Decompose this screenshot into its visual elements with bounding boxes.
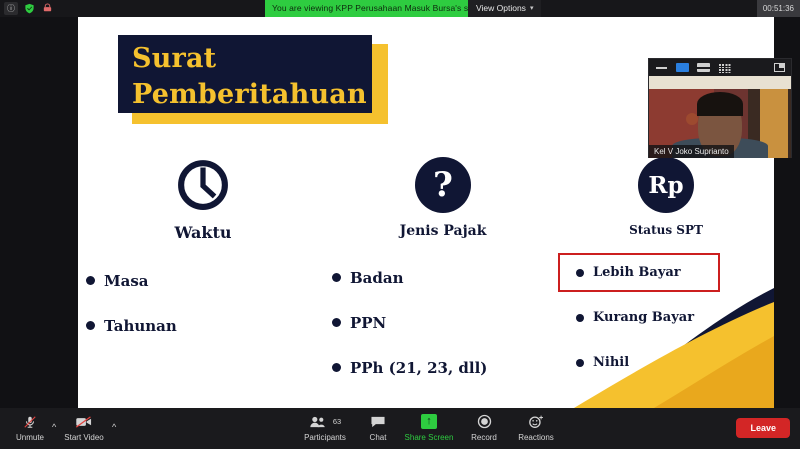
- list-item: PPh (21, 23, dll): [318, 345, 568, 390]
- record-button[interactable]: Record: [462, 412, 506, 443]
- screen-share-banner: You are viewing KPP Perusahaan Masuk Bur…: [265, 0, 497, 17]
- share-screen-button[interactable]: ↑ Share Screen: [404, 412, 454, 443]
- column-heading-status-spt: Status SPT: [558, 223, 774, 237]
- self-video-feed: Kel V Joko Suprianto: [649, 76, 791, 158]
- gallery-view-icon[interactable]: [697, 63, 710, 73]
- slide-title-line-2: Pemberitahuan: [132, 77, 358, 113]
- rupiah-glyph: Rp: [638, 157, 694, 213]
- self-view-thumbnail[interactable]: Kel V Joko Suprianto: [648, 58, 792, 158]
- popout-icon[interactable]: [774, 63, 785, 72]
- view-options-label: View Options: [476, 0, 526, 17]
- list-item-highlighted: Lebih Bayar: [558, 253, 720, 292]
- camera-off-icon: [75, 412, 93, 431]
- record-label: Record: [471, 433, 497, 443]
- start-video-button[interactable]: Start Video: [60, 412, 108, 443]
- participants-button[interactable]: 63 Participants: [300, 412, 350, 443]
- slide-title: Surat Pemberitahuan: [118, 35, 372, 113]
- slide-column-jenis-pajak: ? Jenis Pajak Badan PPN PPh (21, 23, dll…: [318, 157, 568, 390]
- reactions-button[interactable]: Reactions: [512, 412, 560, 443]
- clock-icon: [78, 157, 328, 219]
- microphone-muted-icon: [23, 412, 37, 431]
- list-item-label: Lebih Bayar: [593, 265, 681, 280]
- participant-name-label: Kel V Joko Suprianto: [649, 145, 734, 158]
- share-screen-label: Share Screen: [405, 433, 454, 443]
- list-item: Badan: [318, 255, 568, 300]
- list-item-label: Masa: [104, 272, 149, 290]
- recording-icon[interactable]: [40, 2, 54, 15]
- list-item-label: PPN: [350, 314, 386, 332]
- chat-bubble-icon: [370, 412, 386, 431]
- column-heading-waktu: Waktu: [78, 223, 328, 242]
- view-options-button[interactable]: View Options ▾: [468, 0, 541, 17]
- start-video-label: Start Video: [64, 433, 103, 443]
- slide-corner-decoration: [544, 288, 774, 408]
- list-item-label: Badan: [350, 269, 404, 287]
- grid-view-icon[interactable]: [718, 63, 731, 73]
- video-background-ceiling: [649, 76, 791, 89]
- view-mode-toolbar: [649, 59, 791, 76]
- share-arrow-up-icon: ↑: [421, 414, 437, 429]
- video-options-chevron-icon[interactable]: ^: [112, 422, 116, 432]
- minimize-icon[interactable]: [655, 63, 668, 73]
- participants-count: 63: [333, 417, 341, 426]
- participants-label: Participants: [304, 433, 346, 443]
- unmute-button[interactable]: Unmute: [10, 412, 50, 443]
- column-items-jenis-pajak: Badan PPN PPh (21, 23, dll): [318, 255, 568, 390]
- bullet-dot-icon: [332, 318, 341, 327]
- top-bar: ⓘ You are viewing KPP Perusahaan Masuk B…: [0, 0, 800, 17]
- info-icon[interactable]: ⓘ: [4, 2, 18, 15]
- list-item: Tahunan: [78, 303, 328, 348]
- bullet-dot-icon: [332, 273, 341, 282]
- record-circle-icon: [477, 412, 492, 431]
- stage-letterbox-left: [0, 17, 78, 408]
- chat-button[interactable]: Chat: [360, 412, 396, 443]
- chat-label: Chat: [370, 433, 387, 443]
- slide-title-line-1: Surat: [132, 41, 358, 77]
- reactions-label: Reactions: [518, 433, 554, 443]
- list-item: PPN: [318, 300, 568, 345]
- bullet-dot-icon: [86, 321, 95, 330]
- bullet-dot-icon: [332, 363, 341, 372]
- audio-options-chevron-icon[interactable]: ^: [52, 422, 56, 432]
- participants-count-inline: [326, 417, 328, 423]
- list-item-label: PPh (21, 23, dll): [350, 359, 487, 377]
- question-mark-icon: ?: [318, 157, 568, 219]
- video-person-hair: [697, 92, 743, 116]
- leave-button[interactable]: Leave: [736, 418, 790, 438]
- unmute-label: Unmute: [16, 433, 44, 443]
- encryption-shield-icon[interactable]: [22, 2, 36, 15]
- speaker-view-icon[interactable]: [676, 63, 689, 73]
- zoom-meeting-window: ⓘ You are viewing KPP Perusahaan Masuk B…: [0, 0, 800, 449]
- slide-column-waktu: Waktu Masa Tahunan: [78, 157, 328, 348]
- bullet-dot-icon: [576, 269, 584, 277]
- meeting-timer: 00:51:36: [757, 0, 800, 17]
- participants-icon: 63: [309, 412, 341, 431]
- chevron-down-icon: ▾: [530, 0, 534, 17]
- column-heading-jenis-pajak: Jenis Pajak: [318, 223, 568, 239]
- question-mark-glyph: ?: [415, 157, 471, 213]
- column-items-waktu: Masa Tahunan: [78, 258, 328, 348]
- list-item-label: Tahunan: [104, 317, 177, 335]
- share-screen-icon: ↑: [421, 412, 437, 431]
- rupiah-icon: Rp: [558, 157, 774, 219]
- reactions-smiley-icon: [528, 412, 544, 431]
- meeting-toolbar: Unmute ^ Start Video ^: [0, 408, 800, 449]
- bullet-dot-icon: [86, 276, 95, 285]
- list-item: Masa: [78, 258, 328, 303]
